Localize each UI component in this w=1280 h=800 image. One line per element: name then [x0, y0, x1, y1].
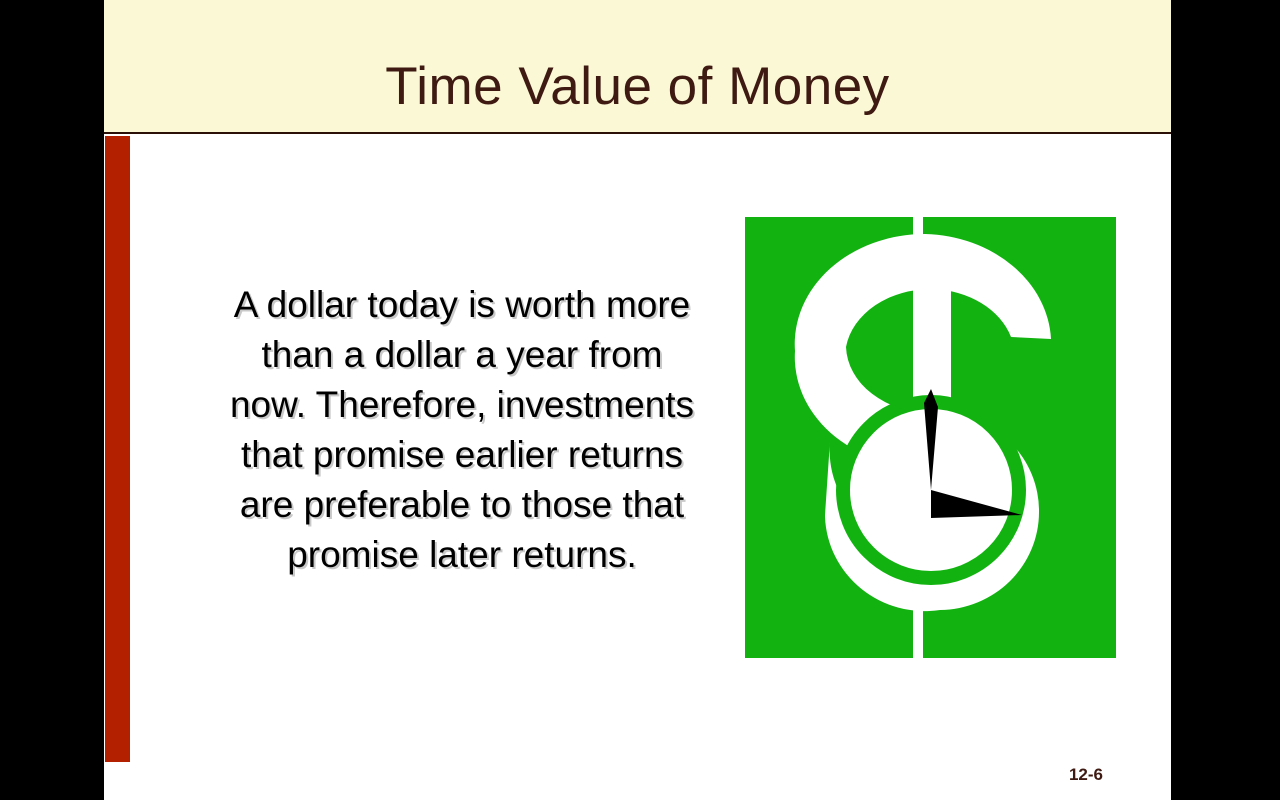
letterbox-left	[0, 0, 104, 800]
page-title: Time Value of Money	[104, 56, 1171, 118]
presentation-slide: Time Value of Money A dollar today is wo…	[104, 0, 1171, 800]
dollar-clock-svg	[745, 217, 1116, 658]
accent-bar	[105, 136, 130, 762]
slide-body-text: A dollar today is worth more than a doll…	[222, 280, 702, 580]
slide-stage: Time Value of Money A dollar today is wo…	[0, 0, 1280, 800]
letterbox-right	[1171, 0, 1280, 800]
dollar-sign-clock-graphic	[745, 217, 1116, 658]
page-number: 12-6	[104, 765, 1171, 785]
